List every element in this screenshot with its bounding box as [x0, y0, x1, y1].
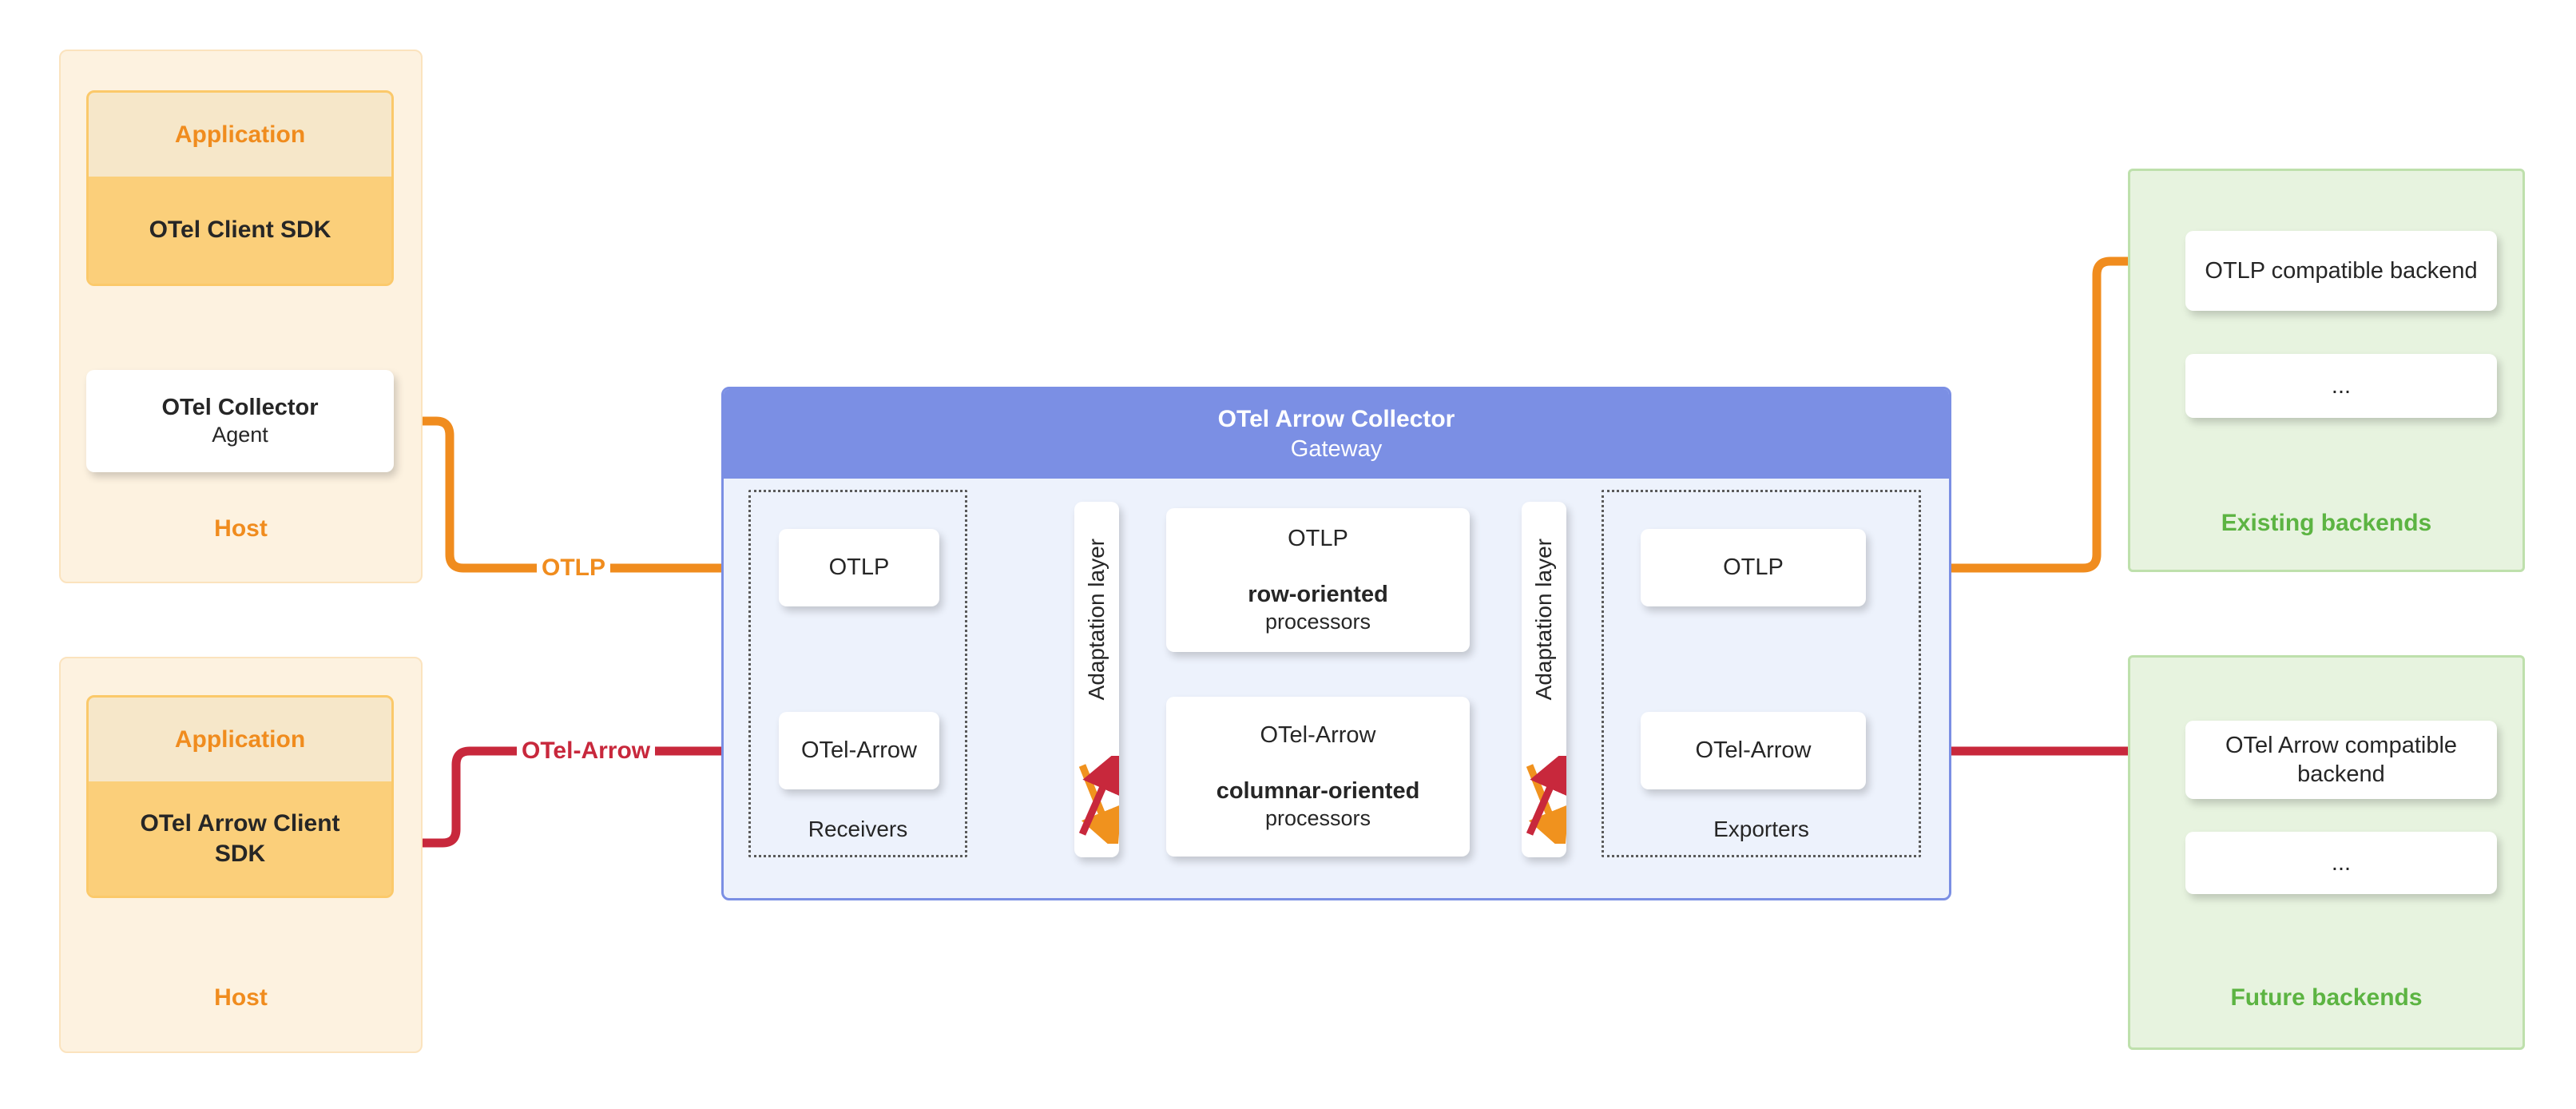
otel-collector-title: OTel Collector	[161, 393, 318, 422]
wire-label-otel-arrow: OTel-Arrow	[517, 739, 655, 763]
collector-header: OTel Arrow Collector Gateway	[724, 389, 1949, 479]
collector-subtitle: Gateway	[1291, 435, 1382, 465]
adaptation-layer-1-label: Adaptation layer	[1084, 539, 1109, 700]
existing-backend-card-1[interactable]: OTLP compatible backend	[2185, 231, 2497, 311]
processor-columnar-oriented-card[interactable]: OTel-Arrow columnar-oriented processors	[1166, 697, 1470, 857]
application-box-2: Application OTel Arrow Client SDK	[86, 695, 394, 898]
existing-backend-label-2: ...	[2332, 372, 2351, 400]
adaptation-swap-icon-2	[1522, 756, 1566, 844]
exporters-caption: Exporters	[1602, 817, 1921, 842]
processor-columnar-oriented-suffix: processors	[1265, 805, 1371, 833]
existing-backends-label: Existing backends	[2128, 510, 2525, 537]
adaptation-layer-2-label: Adaptation layer	[1531, 539, 1557, 700]
otel-arrow-client-sdk-band: OTel Arrow Client SDK	[89, 781, 391, 896]
processor-row-oriented-card[interactable]: OTLP row-oriented processors	[1166, 508, 1470, 652]
wire-label-otlp: OTLP	[537, 556, 610, 580]
application-label-2: Application	[89, 698, 391, 781]
future-backend-card-1[interactable]: OTel Arrow compatible backend	[2185, 721, 2497, 799]
otel-client-sdk-band: OTel Client SDK	[89, 177, 391, 284]
existing-backend-label-1: OTLP compatible backend	[2205, 256, 2477, 285]
exporter-otel-arrow-card[interactable]: OTel-Arrow	[1641, 712, 1866, 789]
existing-backend-card-2[interactable]: ...	[2185, 354, 2497, 418]
collector-title: OTel Arrow Collector	[1218, 403, 1455, 435]
application-label-1: Application	[89, 93, 391, 177]
receiver-otel-arrow-card[interactable]: OTel-Arrow	[779, 712, 939, 789]
receiver-otlp-label: OTLP	[829, 553, 890, 582]
exporter-otel-arrow-label: OTel-Arrow	[1695, 736, 1811, 765]
receivers-caption: Receivers	[748, 817, 967, 842]
exporter-otlp-card[interactable]: OTLP	[1641, 529, 1866, 606]
future-backend-card-2[interactable]: ...	[2185, 832, 2497, 894]
wire-otlp-agent-to-collector	[389, 421, 779, 568]
otel-collector-agent-card[interactable]: OTel Collector Agent	[86, 370, 394, 472]
adaptation-layer-1[interactable]: Adaptation layer	[1074, 502, 1119, 857]
processor-row-oriented-suffix: processors	[1265, 609, 1371, 636]
future-backend-label-1: OTel Arrow compatible backend	[2185, 731, 2497, 789]
processor-row-oriented-kind: row-oriented	[1248, 580, 1388, 609]
processor-otel-arrow-protocol: OTel-Arrow	[1260, 721, 1375, 749]
receiver-otlp-card[interactable]: OTLP	[779, 529, 939, 606]
processor-otlp-protocol: OTLP	[1288, 524, 1348, 553]
exporter-otlp-label: OTLP	[1723, 553, 1784, 582]
host-label-2: Host	[59, 984, 423, 1012]
receiver-otel-arrow-label: OTel-Arrow	[801, 736, 917, 765]
future-backend-label-2: ...	[2332, 849, 2351, 877]
processor-columnar-oriented-kind: columnar-oriented	[1217, 777, 1420, 805]
otel-collector-subtitle: Agent	[212, 422, 268, 449]
adaptation-layer-2[interactable]: Adaptation layer	[1522, 502, 1566, 857]
diagram-canvas: Application OTel Client SDK OTel Collect…	[0, 0, 2576, 1109]
adaptation-swap-icon-1	[1074, 756, 1119, 844]
future-backends-label: Future backends	[2128, 984, 2525, 1012]
host-label-1: Host	[59, 515, 423, 543]
application-box-1: Application OTel Client SDK	[86, 90, 394, 286]
